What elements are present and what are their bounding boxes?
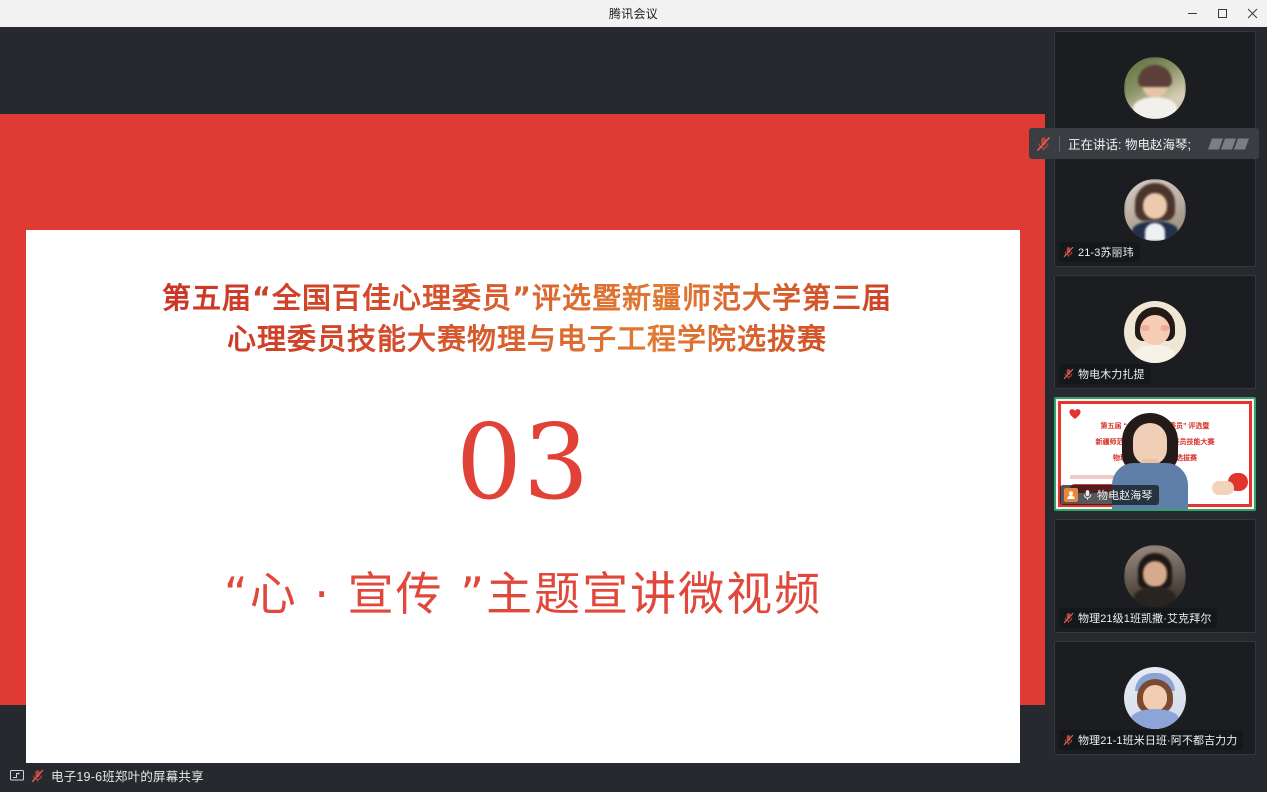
avatar	[1124, 667, 1186, 729]
participant-tile[interactable]: 物理21-1班米日班·阿不都吉力力	[1054, 641, 1256, 755]
mic-muted-icon	[1036, 136, 1051, 152]
screen-share-icon	[10, 770, 24, 782]
mic-on-icon	[1082, 489, 1093, 501]
active-speaker-text: 正在讲话: 物电赵海琴;	[1068, 134, 1191, 153]
participant-tile[interactable]: 物电木力扎提	[1054, 275, 1256, 389]
slide-section-number: 03	[26, 410, 1020, 514]
maximize-restore-button[interactable]	[1207, 0, 1237, 27]
window-titlebar: 腾讯会议	[0, 0, 1267, 27]
minimize-button[interactable]	[1177, 0, 1207, 27]
meeting-window: 第五届“全国百佳心理委员”评选暨新疆师范大学第三届 心理委员技能大赛物理与电子工…	[0, 27, 1267, 792]
participant-name: 物电木力扎提	[1078, 366, 1145, 382]
close-button[interactable]	[1237, 0, 1267, 27]
mic-muted-icon	[1063, 734, 1074, 746]
mic-muted-icon	[1063, 368, 1074, 380]
window-controls	[1177, 0, 1267, 27]
participant-nametag: 物理21级1班凯撒·艾克拜尔	[1059, 608, 1217, 628]
participant-nametag: 21-3苏丽玮	[1059, 242, 1140, 262]
screen-share-label: 电子19-6班郑叶的屏幕共享	[51, 766, 204, 785]
slide-inner-card: 第五届“全国百佳心理委员”评选暨新疆师范大学第三届 心理委员技能大赛物理与电子工…	[26, 230, 1020, 763]
participant-name: 21-3苏丽玮	[1078, 244, 1134, 260]
mic-muted-icon	[1063, 612, 1074, 624]
participant-tile-speaking[interactable]: 第五届 “全国百佳心理委员” 评选暨 新疆师范大学第三届心理委员技能大赛 物理与…	[1054, 397, 1256, 511]
presentation-slide: 第五届“全国百佳心理委员”评选暨新疆师范大学第三届 心理委员技能大赛物理与电子工…	[0, 114, 1045, 705]
host-badge-icon	[1064, 488, 1078, 502]
avatar	[1124, 179, 1186, 241]
participant-name: 物理21-1班米日班·阿不都吉力力	[1078, 732, 1237, 748]
slide-subtitle: “心 · 宣传 ”主题宣讲微视频	[26, 558, 1020, 624]
heart-icon	[1068, 407, 1082, 420]
avatar	[1124, 301, 1186, 363]
participant-nametag: 物电赵海琴	[1060, 485, 1159, 505]
banner-divider	[1059, 136, 1060, 152]
mic-muted-icon	[31, 769, 44, 783]
participant-name: 物电赵海琴	[1097, 487, 1153, 503]
participant-name: 物理21级1班凯撒·艾克拜尔	[1078, 610, 1211, 626]
participant-nametag: 物理21-1班米日班·阿不都吉力力	[1059, 730, 1243, 750]
participant-nametag: 物电木力扎提	[1059, 364, 1151, 384]
participant-tile[interactable]: 物理21级1班凯撒·艾克拜尔	[1054, 519, 1256, 633]
window-title: 腾讯会议	[609, 5, 658, 22]
active-speaker-banner: 正在讲话: 物电赵海琴;	[1029, 128, 1259, 159]
slide-title: 第五届“全国百佳心理委员”评选暨新疆师范大学第三届 心理委员技能大赛物理与电子工…	[72, 278, 982, 360]
mic-muted-icon	[1063, 246, 1074, 258]
avatar	[1124, 545, 1186, 607]
hand-holding-heart	[1214, 469, 1248, 495]
screen-share-status: 电子19-6班郑叶的屏幕共享	[6, 763, 212, 788]
avatar	[1124, 57, 1186, 119]
shared-screen-stage[interactable]: 第五届“全国百佳心理委员”评选暨新疆师范大学第三届 心理委员技能大赛物理与电子工…	[0, 27, 1045, 792]
participant-tile[interactable]: 21-3苏丽玮	[1054, 153, 1256, 267]
sound-wave-icon	[1210, 138, 1247, 149]
